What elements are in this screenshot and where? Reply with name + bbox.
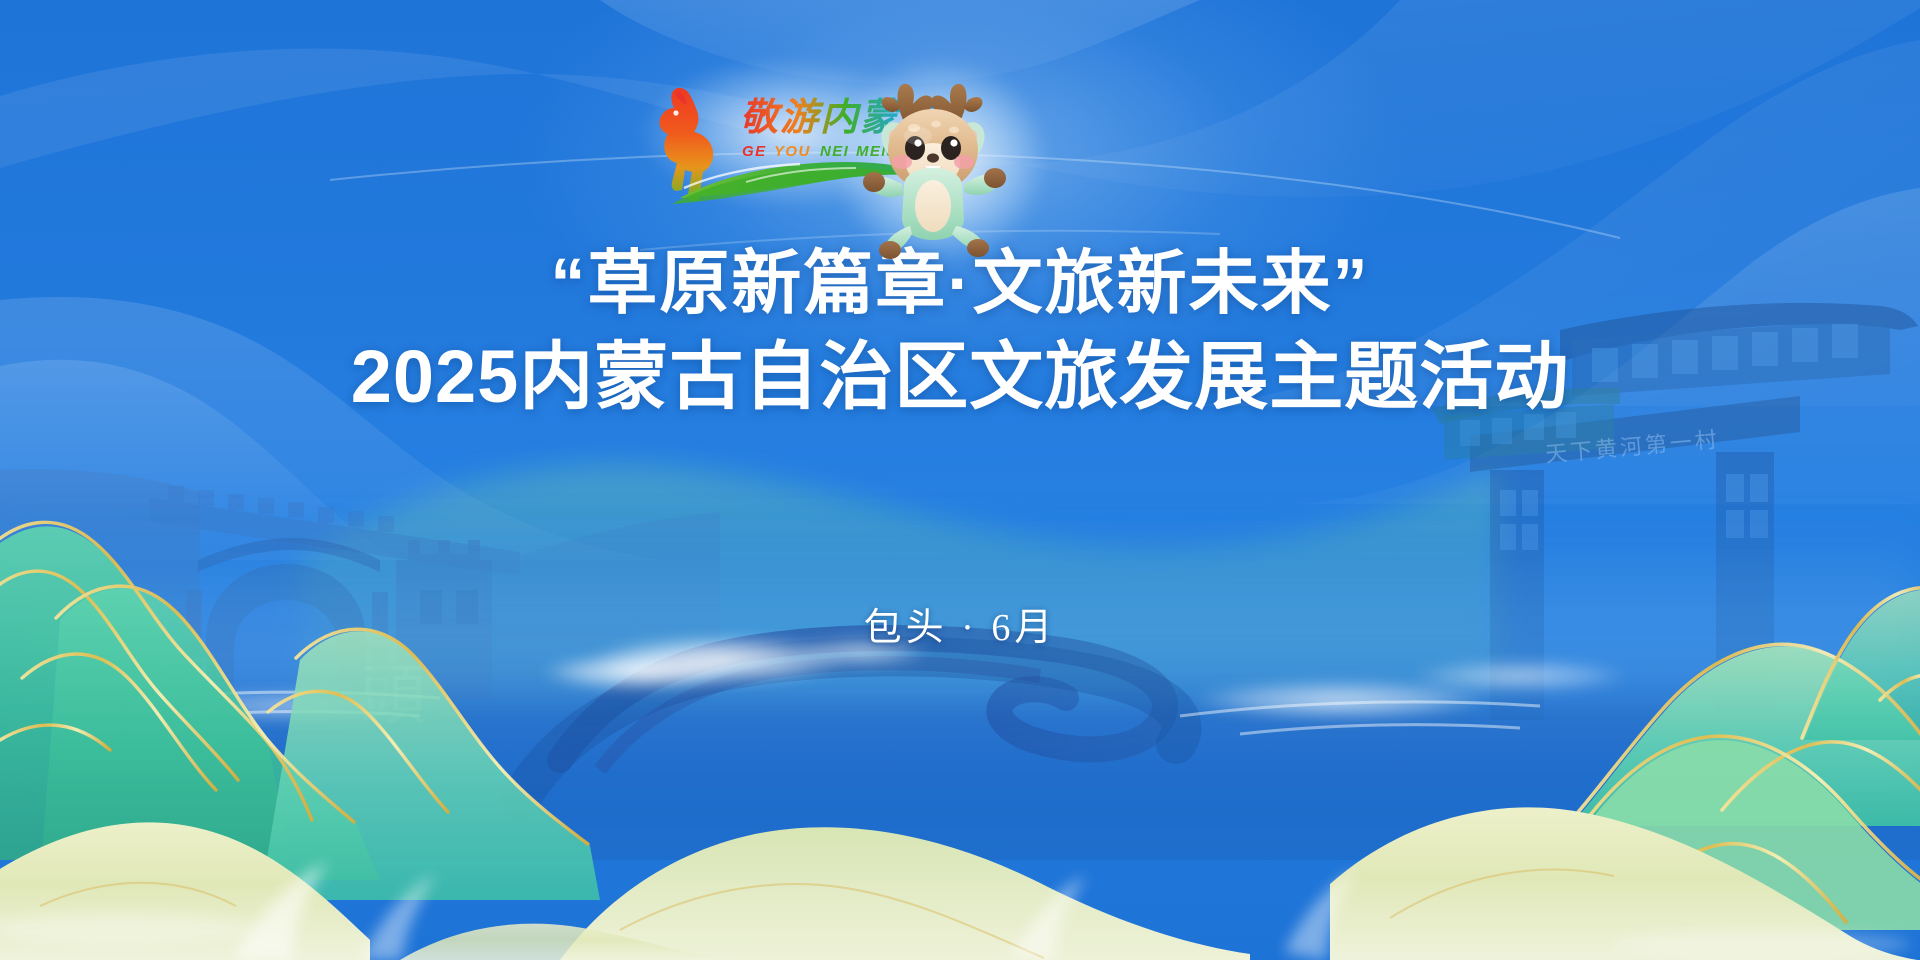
brand-lockup: 敬游内蒙古 GE YOU NEI MENG GU <box>640 58 1280 248</box>
deer-mascot[interactable] <box>840 66 1030 261</box>
svg-text:GE: GE <box>742 143 766 160</box>
headline-line2: 2025内蒙古自治区文旅发展主题活动 <box>0 340 1920 414</box>
galloping-horse-icon <box>659 88 713 201</box>
place-date-label: 包头 · 6月 <box>0 596 1920 651</box>
poster-canvas: 包 頭 <box>0 0 1920 960</box>
svg-text:YOU: YOU <box>774 143 811 160</box>
headline-block: “草原新篇章·文旅新未来” 2025内蒙古自治区文旅发展主题活动 <box>0 248 1920 414</box>
